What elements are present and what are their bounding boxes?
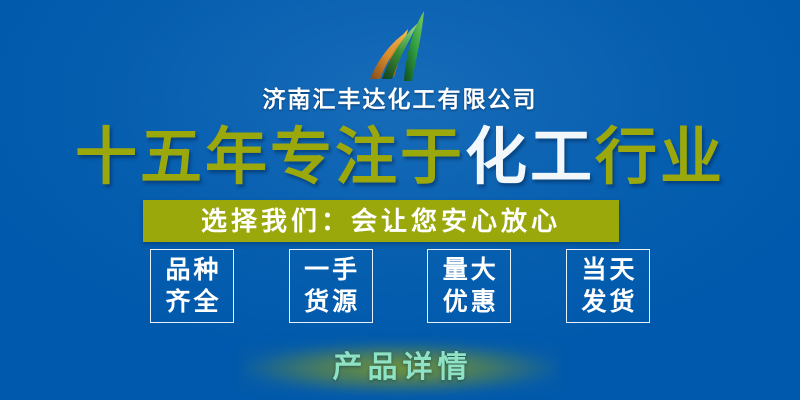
headline-accent: 化工 — [465, 123, 595, 192]
feature-line-2: 优惠 — [440, 286, 499, 318]
slogan-text: 选择我们：会让您安心放心 — [201, 206, 561, 236]
logo-container — [0, 8, 800, 84]
feature-box: 量大 优惠 — [427, 249, 511, 323]
slogan-bar: 选择我们：会让您安心放心 — [143, 200, 619, 242]
feature-line-1: 品种 — [162, 254, 221, 286]
feature-box: 当天 发货 — [566, 249, 650, 323]
headline-part-2: 行业 — [595, 123, 725, 192]
product-details-cta[interactable]: 产品详情 — [0, 340, 800, 396]
company-name: 济南汇丰达化工有限公司 — [0, 84, 800, 114]
leaf-grass-logo-icon — [352, 9, 448, 83]
feature-box-group: 品种 齐全 一手 货源 量大 优惠 当天 发货 — [150, 249, 650, 325]
feature-line-2: 齐全 — [162, 286, 221, 318]
feature-box: 品种 齐全 — [150, 249, 234, 323]
feature-line-2: 发货 — [578, 286, 637, 318]
headline-part-1: 十五年专注于 — [75, 123, 465, 192]
cta-label: 产品详情 — [328, 349, 473, 387]
feature-line-1: 一手 — [301, 254, 360, 286]
feature-line-1: 当天 — [578, 254, 637, 286]
feature-line-1: 量大 — [440, 254, 499, 286]
promo-banner: 济南汇丰达化工有限公司 十五年专注于化工行业 选择我们：会让您安心放心 品种 齐… — [0, 0, 800, 400]
feature-box: 一手 货源 — [289, 249, 373, 323]
feature-line-2: 货源 — [301, 286, 360, 318]
headline: 十五年专注于化工行业 — [0, 120, 800, 196]
